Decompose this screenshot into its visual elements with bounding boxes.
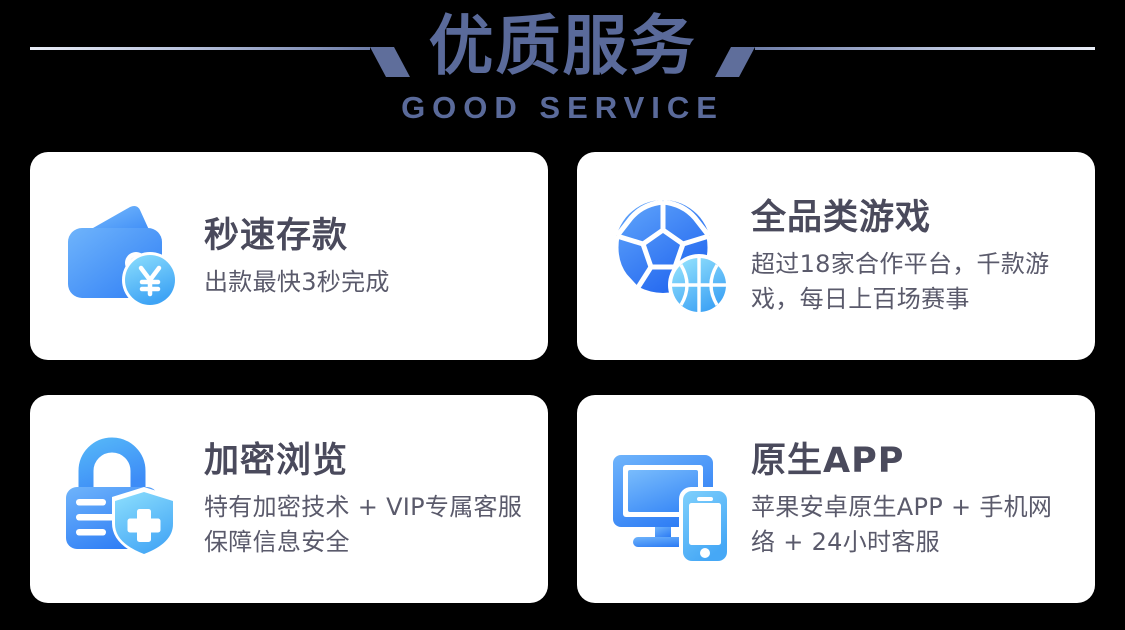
card-description: 超过18家合作平台，千款游戏，每日上百场赛事 bbox=[751, 247, 1073, 317]
card-description: 出款最快3秒完成 bbox=[204, 265, 526, 300]
monitor-phone-icon bbox=[605, 433, 737, 565]
wallet-yen-icon bbox=[58, 190, 190, 322]
card-title: 加密浏览 bbox=[204, 438, 526, 484]
feature-card-all-games[interactable]: 全品类游戏 超过18家合作平台，千款游戏，每日上百场赛事 bbox=[577, 152, 1095, 360]
page-header: 优质服务 GOOD SERVICE bbox=[0, 0, 1125, 145]
header-title-group: 优质服务 GOOD SERVICE bbox=[0, 8, 1125, 127]
page-title: 优质服务 bbox=[0, 8, 1125, 86]
card-title: 秒速存款 bbox=[204, 213, 526, 259]
soccer-basketball-icon bbox=[605, 190, 737, 322]
card-text-block: 秒速存款 出款最快3秒完成 bbox=[204, 213, 526, 300]
feature-card-grid: 秒速存款 出款最快3秒完成 bbox=[30, 152, 1095, 603]
card-description: 特有加密技术 + VIP专属客服保障信息安全 bbox=[204, 490, 526, 560]
feature-card-instant-deposit[interactable]: 秒速存款 出款最快3秒完成 bbox=[30, 152, 548, 360]
feature-card-encrypted-browsing[interactable]: 加密浏览 特有加密技术 + VIP专属客服保障信息安全 bbox=[30, 395, 548, 603]
lock-shield-icon-svg bbox=[58, 433, 190, 565]
wallet-yen-icon-svg bbox=[58, 190, 190, 322]
page-subtitle: GOOD SERVICE bbox=[0, 89, 1125, 127]
card-text-block: 全品类游戏 超过18家合作平台，千款游戏，每日上百场赛事 bbox=[751, 195, 1073, 317]
lock-shield-icon bbox=[58, 433, 190, 565]
card-title: 原生APP bbox=[751, 438, 1073, 484]
card-text-block: 原生APP 苹果安卓原生APP + 手机网络 + 24小时客服 bbox=[751, 438, 1073, 560]
feature-card-native-app[interactable]: 原生APP 苹果安卓原生APP + 手机网络 + 24小时客服 bbox=[577, 395, 1095, 603]
monitor-phone-icon-svg bbox=[605, 433, 737, 565]
card-text-block: 加密浏览 特有加密技术 + VIP专属客服保障信息安全 bbox=[204, 438, 526, 560]
card-title: 全品类游戏 bbox=[751, 195, 1073, 241]
card-description: 苹果安卓原生APP + 手机网络 + 24小时客服 bbox=[751, 490, 1073, 560]
soccer-basketball-icon-svg bbox=[605, 190, 737, 322]
